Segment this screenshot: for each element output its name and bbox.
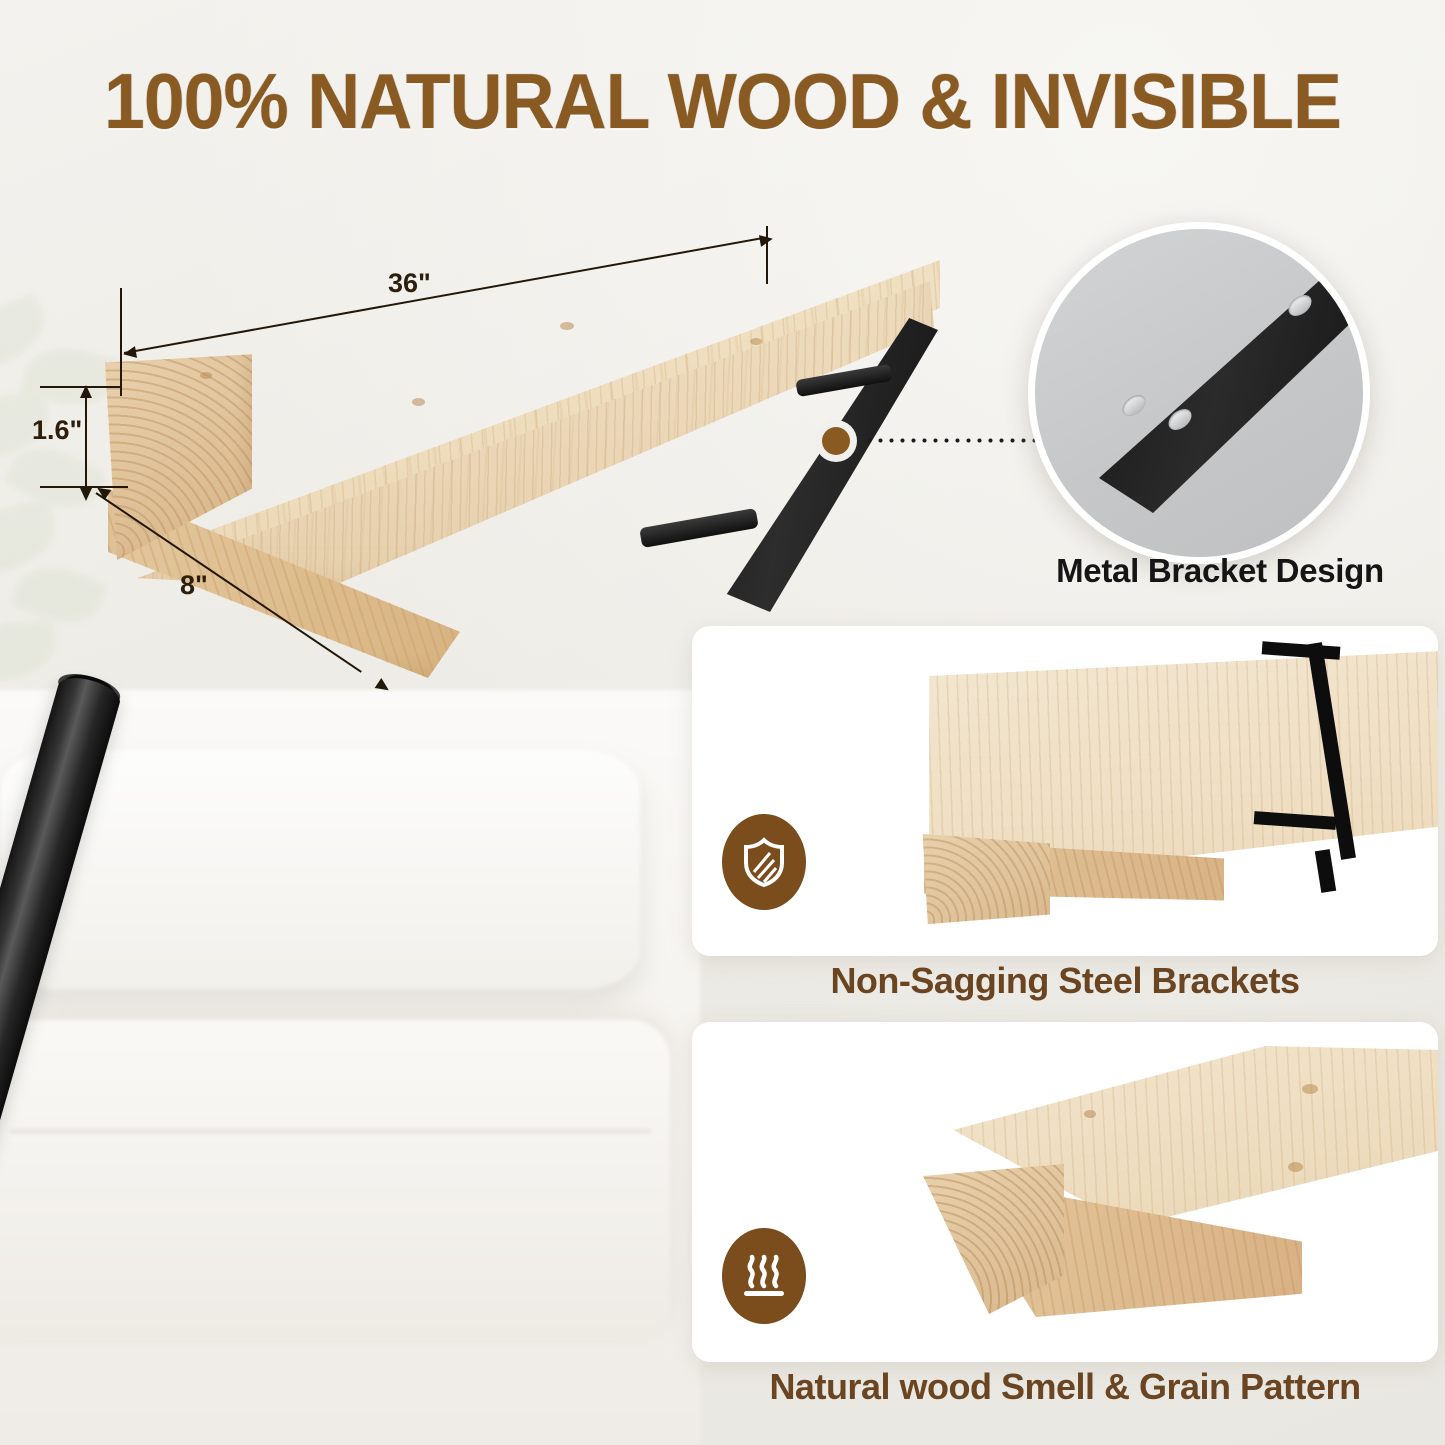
dimension-length-label: 36" [388,268,431,299]
feature-label-non-sagging-steel-brackets: Non-Sagging Steel Brackets [692,960,1438,1002]
wood-knot [412,398,425,406]
steel-bracket [1282,636,1438,886]
shelf-end-grain [920,832,1050,928]
callout-connector [822,427,1054,443]
feature-card-non-sagging-steel-brackets[interactable] [692,626,1438,956]
dimension-depth-label: 8" [180,570,208,601]
metal-bracket-design-label: Metal Bracket Design [1020,552,1420,590]
t-bracket-rod-photo [0,650,650,1445]
bracket-rod [0,672,124,1199]
infographic-canvas: 100% NATURAL WOOD & INVISIBLE 36" [0,0,1445,1445]
bracket-rod [639,508,759,548]
screw-hole-icon [1119,391,1150,420]
wood-knot [200,372,212,379]
bracket-plate [1087,263,1370,513]
shield-icon [722,814,806,910]
metal-bracket-callout: Metal Bracket Design [1028,222,1418,612]
bracket-rod [1028,222,1099,396]
wood-knot [1288,1162,1303,1172]
connector-dot-icon [822,427,850,455]
page-title: 100% NATURAL WOOD & INVISIBLE [43,62,1401,140]
dimension-thickness-label: 1.6" [32,415,82,446]
bracket-plate [698,318,938,618]
dotted-leader-icon [864,438,1054,443]
bracket-foot [1315,849,1336,893]
feature-card-natural-wood-smell-grain-pattern[interactable] [692,1022,1438,1362]
wood-knot [1084,1110,1096,1118]
aroma-steam-icon [722,1228,806,1324]
wood-knot [560,322,574,330]
metal-bracket-photo [1028,222,1370,564]
wood-knot [1302,1084,1318,1094]
feature-label-natural-wood-smell-grain-pattern: Natural wood Smell & Grain Pattern [692,1366,1438,1408]
hero-metal-bracket [620,300,990,630]
bracket-top-arm [1262,641,1341,659]
